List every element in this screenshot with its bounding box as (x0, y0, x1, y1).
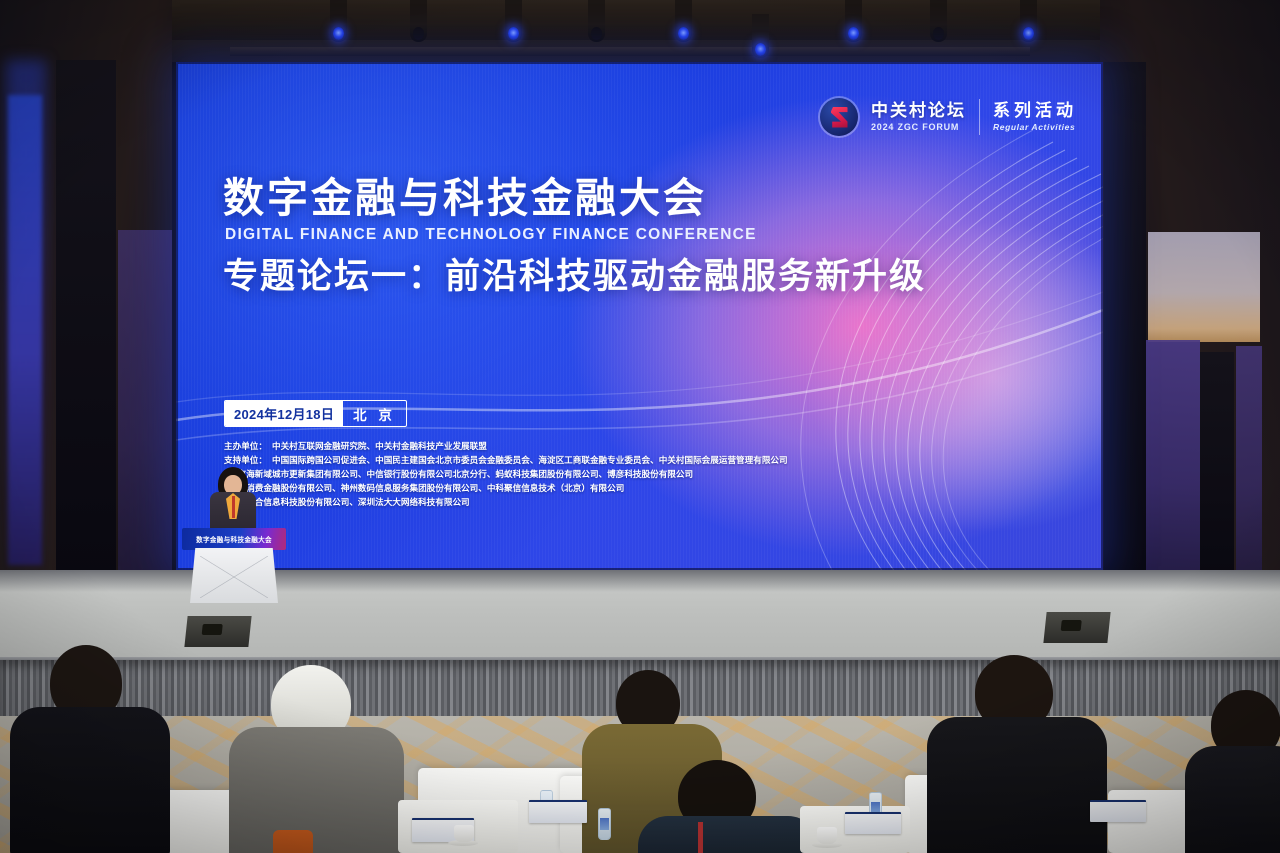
left-wall-blue-panel (8, 95, 42, 565)
tea-cup (817, 827, 837, 844)
person-body (927, 717, 1107, 853)
logo-divider (979, 99, 980, 135)
right-wall-purple-panel-2 (1236, 346, 1262, 580)
led-screen: 中关村论坛 2024 ZGC FORUM 系列活动 Regular Activi… (176, 62, 1103, 570)
logo-series-cn: 系列活动 (993, 102, 1077, 120)
stage-monitor-speaker (1043, 612, 1110, 643)
audience-person (650, 760, 800, 853)
organizer-label: 主办单位： (224, 441, 267, 451)
stage-lamp-icon (845, 0, 862, 42)
truss-lower-bar (230, 47, 1030, 56)
name-card (529, 800, 587, 823)
zgc-forum-logo: 中关村论坛 2024 ZGC FORUM 系列活动 Regular Activi… (820, 98, 1077, 136)
speaker-lanyard (232, 496, 235, 518)
right-wall-purple-panel (1138, 340, 1200, 580)
left-wall-purple-panel (118, 230, 172, 580)
stage-lamp-icon (505, 0, 522, 42)
organizer-text: 北京海新域城市更新集团有限公司、中信银行股份有限公司北京分行、蚂蚁科技集团股份有… (229, 469, 693, 479)
organizer-list: 主办单位：中关村互联网金融研究院、中关村金融科技产业发展联盟 支持单位：中国国际… (224, 440, 788, 510)
podium-sign-text: 数字金融与科技金融大会 (196, 534, 272, 544)
badge-city: 北 京 (343, 401, 406, 426)
stage-lamp-icon (930, 0, 947, 42)
person-body (229, 727, 404, 853)
audience-person (1195, 690, 1280, 853)
left-wall-dark-panel (56, 60, 116, 580)
organizer-line: 北京海新域城市更新集团有限公司、中信银行股份有限公司北京分行、蚂蚁科技集团股份有… (224, 468, 788, 482)
right-wall-warm-panel (1148, 232, 1260, 342)
audience-person (935, 655, 1095, 853)
person-scarf (273, 830, 313, 853)
right-wall-dark-gap (1104, 62, 1146, 582)
organizer-text: 马上消费金融股份有限公司、神州数码信息服务集团股份有限公司、中科聚信信息技术（北… (229, 483, 624, 493)
organizer-label: 支持单位： (224, 455, 267, 465)
podium: 数字金融与科技金融大会 (182, 528, 286, 603)
water-bottle (598, 808, 611, 840)
zgc-z-mark-icon (831, 107, 848, 128)
conference-title-en: DIGITAL FINANCE AND TECHNOLOGY FINANCE C… (225, 226, 757, 244)
name-card (845, 812, 901, 834)
podium-cross-detail (200, 556, 268, 598)
stage-lamp-icon (752, 14, 769, 58)
stage-lamp-icon (330, 0, 347, 42)
stage-lamp-icon (588, 0, 605, 42)
conference-photo: 中关村论坛 2024 ZGC FORUM 系列活动 Regular Activi… (0, 0, 1280, 853)
logo-name-en: 2024 ZGC FORUM (871, 122, 966, 132)
right-wall-door (1200, 352, 1234, 580)
name-card (1090, 800, 1146, 822)
badge-date: 2024年12月18日 (225, 401, 343, 426)
person-lanyard (698, 822, 703, 853)
stage-lamp-icon (1020, 0, 1037, 42)
logo-name-cn: 中关村论坛 (871, 102, 966, 120)
organizer-line: 上海合合信息科技股份有限公司、深圳法大大网络科技有限公司 (224, 496, 788, 510)
organizer-text: 上海合合信息科技股份有限公司、深圳法大大网络科技有限公司 (229, 497, 470, 507)
person-body (1185, 746, 1280, 853)
organizer-line: 主办单位：中关村互联网金融研究院、中关村金融科技产业发展联盟 (224, 440, 788, 454)
conference-title-cn: 数字金融与科技金融大会 (223, 178, 707, 219)
zgc-badge-icon (820, 98, 858, 136)
person-body (10, 707, 170, 853)
audience-person (225, 665, 385, 853)
tea-cup (454, 825, 474, 842)
organizer-text: 中国国际跨国公司促进会、中国民主建国会北京市委员会金融委员会、海淀区工商联金融专… (272, 455, 788, 465)
stage-monitor-speaker (184, 616, 251, 647)
stage-lamp-icon (410, 0, 427, 42)
audience-person (20, 645, 150, 853)
organizer-line: 支持单位：中国国际跨国公司促进会、中国民主建国会北京市委员会金融委员会、海淀区工… (224, 454, 788, 468)
organizer-line: 马上消费金融股份有限公司、神州数码信息服务集团股份有限公司、中科聚信信息技术（北… (224, 482, 788, 496)
forum-subtitle-cn: 专题论坛一：前沿科技驱动金融服务新升级 (223, 257, 926, 297)
person-body (638, 816, 818, 853)
date-location-badge: 2024年12月18日 北 京 (224, 400, 407, 427)
stage-lamp-icon (675, 0, 692, 42)
organizer-text: 中关村互联网金融研究院、中关村金融科技产业发展联盟 (272, 441, 487, 451)
speaker-person (207, 470, 259, 532)
podium-sign: 数字金融与科技金融大会 (182, 528, 286, 550)
logo-series-en: Regular Activities (993, 122, 1077, 132)
